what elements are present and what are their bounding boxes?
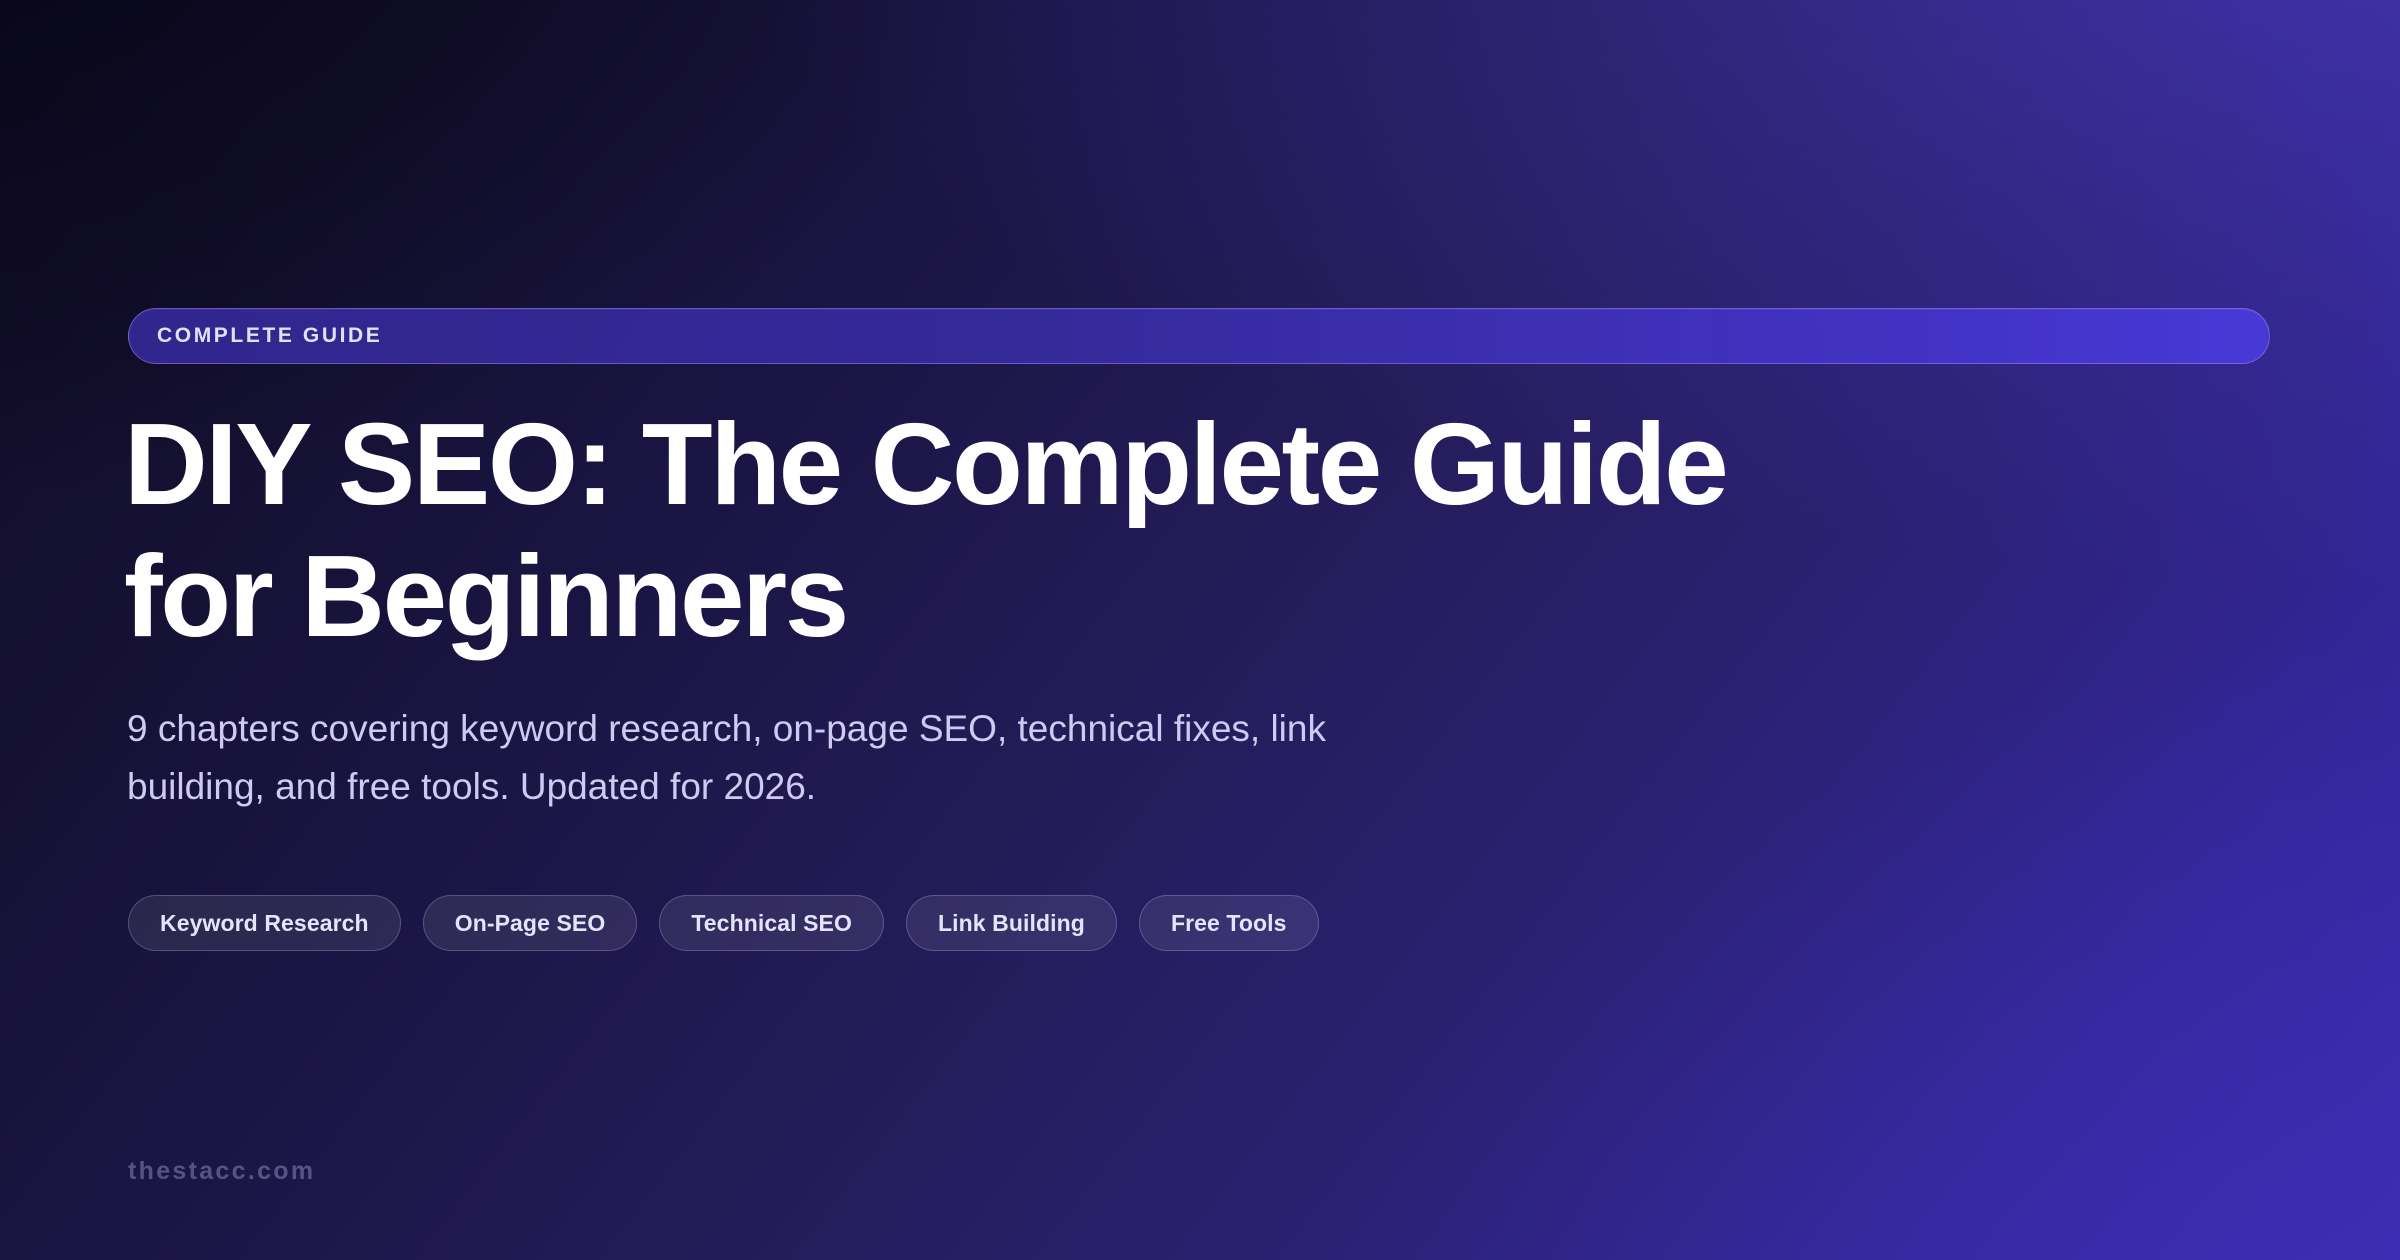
site-wordmark: thestacc.com	[128, 1157, 315, 1186]
topic-tag-free-tools[interactable]: Free Tools	[1139, 895, 1319, 951]
topic-tag-keyword-research[interactable]: Keyword Research	[128, 895, 401, 951]
eyebrow-label: COMPLETE GUIDE	[157, 324, 382, 348]
page-title: DIY SEO: The Complete Guide for Beginner…	[124, 398, 2024, 662]
topic-tag-on-page-seo[interactable]: On-Page SEO	[423, 895, 638, 951]
page-title-line-1: DIY SEO: The Complete Guide	[124, 398, 2024, 530]
topic-tag-list: Keyword Research On-Page SEO Technical S…	[128, 895, 1319, 951]
page-subtitle: 9 chapters covering keyword research, on…	[127, 700, 1457, 815]
hero-content: COMPLETE GUIDE DIY SEO: The Complete Gui…	[0, 0, 2400, 1260]
page-title-line-2: for Beginners	[124, 530, 2024, 662]
topic-tag-link-building[interactable]: Link Building	[906, 895, 1117, 951]
eyebrow-badge: COMPLETE GUIDE	[128, 308, 2270, 364]
topic-tag-technical-seo[interactable]: Technical SEO	[659, 895, 884, 951]
hero-banner: COMPLETE GUIDE DIY SEO: The Complete Gui…	[0, 0, 2400, 1260]
